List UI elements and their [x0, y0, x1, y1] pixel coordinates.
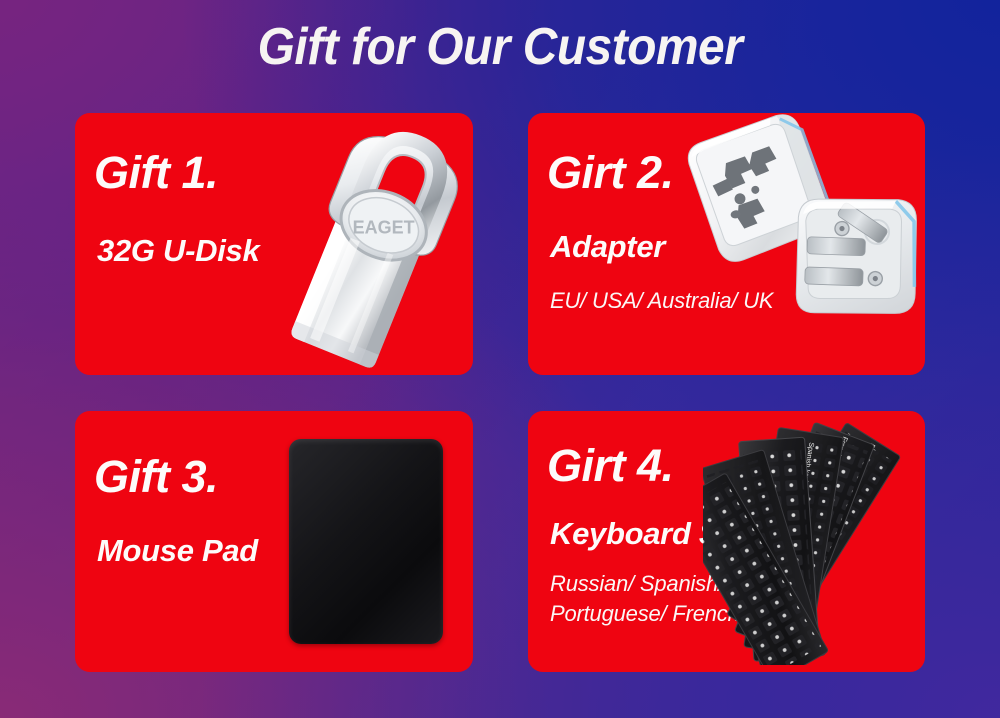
gift-card-3-name: Mouse Pad	[97, 534, 258, 568]
gift-card-4: Girt 4. Keyboard Sticker Russian/ Spanis…	[528, 411, 925, 672]
gift-card-4-label: Girt 4.	[547, 443, 674, 488]
gift-card-2-label: Girt 2.	[547, 150, 674, 195]
gift-card-1-label: Gift 1.	[94, 150, 218, 195]
page-title: Gift for Our Customer	[40, 16, 960, 78]
gift-promo-banner: Gift for Our Customer Gift 1. 32G U-Disk	[0, 0, 1000, 718]
usb-flash-drive-icon: EAGET	[271, 118, 473, 375]
gift-card-2-name: Adapter	[550, 230, 665, 264]
mouse-pad-icon	[289, 439, 443, 644]
svg-text:EAGET: EAGET	[353, 217, 415, 237]
gift-card-1: Gift 1. 32G U-Disk	[75, 113, 473, 375]
gift-card-1-name: 32G U-Disk	[97, 234, 259, 268]
gift-card-3-label: Gift 3.	[94, 454, 218, 499]
gift-card-2: Girt 2. Adapter EU/ USA/ Australia/ UK	[528, 113, 925, 375]
gift-card-3: Gift 3. Mouse Pad	[75, 411, 473, 672]
travel-power-adapter-icon	[678, 113, 925, 343]
keyboard-stickers-icon: Portuguese Keyboard layout French or Ara…	[703, 417, 925, 665]
